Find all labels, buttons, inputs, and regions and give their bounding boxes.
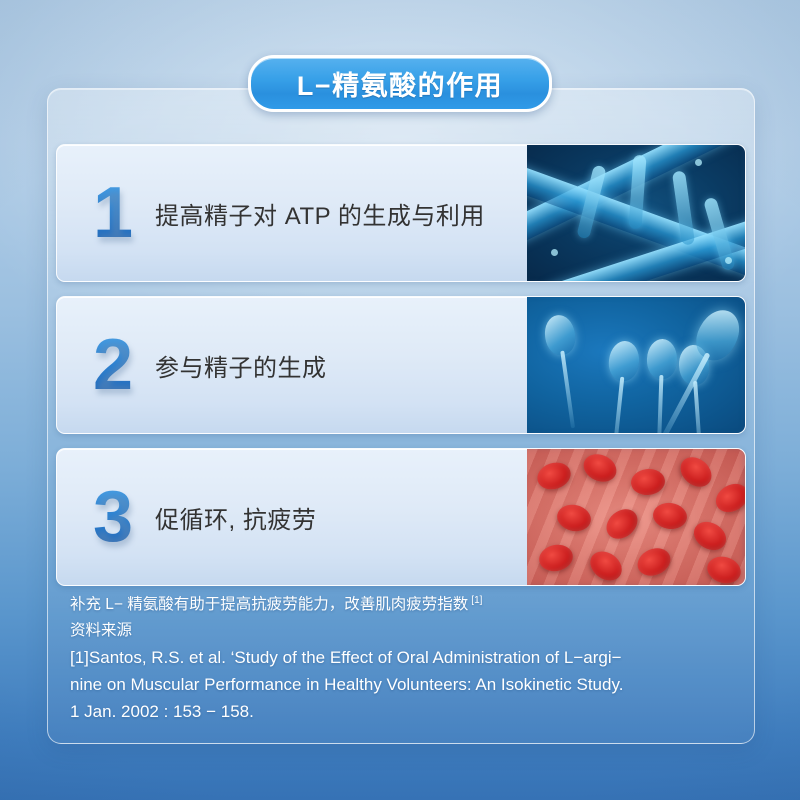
benefit-row-2-text: 参与精子的生成 <box>155 348 327 383</box>
benefit-row-3-body: 3 促循环, 抗疲劳 <box>57 449 527 585</box>
footnote-claim-line: 补充 L− 精氨酸有助于提高抗疲劳能力，改善肌肉疲劳指数[1] <box>70 588 700 618</box>
citation-line-1: [1]Santos, R.S. et al. ‘Study of the Eff… <box>70 644 700 671</box>
benefit-row-3-text: 促循环, 抗疲劳 <box>155 500 316 535</box>
footnote-source-label: 资料来源 <box>70 618 700 644</box>
footnotes: 补充 L− 精氨酸有助于提高抗疲劳能力，改善肌肉疲劳指数[1] 资料来源 [1]… <box>70 588 700 725</box>
benefit-list: 1 提高精子对 ATP 的生成与利用 2 参与精子的生成 <box>56 144 746 600</box>
page-title: L−精氨酸的作用 <box>297 64 503 103</box>
benefit-row-1-text: 提高精子对 ATP 的生成与利用 <box>155 196 485 231</box>
footnote-claim-text: 补充 L− 精氨酸有助于提高抗疲劳能力，改善肌肉疲劳指数 <box>70 596 468 613</box>
benefit-row-1: 1 提高精子对 ATP 的生成与利用 <box>56 144 746 282</box>
red-blood-cells-photo <box>527 449 745 585</box>
benefit-row-3-number: 3 <box>93 481 133 553</box>
citation-line-3: 1 Jan. 2002 : 153 − 158. <box>70 698 700 725</box>
citation-line-2: nine on Muscular Performance in Healthy … <box>70 671 700 698</box>
dna-double-helix-photo <box>527 145 745 281</box>
page-title-pill: L−精氨酸的作用 <box>248 55 552 112</box>
benefit-row-2-body: 2 参与精子的生成 <box>57 297 527 433</box>
sperm-cells-photo <box>527 297 745 433</box>
benefit-row-3: 3 促循环, 抗疲劳 <box>56 448 746 586</box>
title-area: L−精氨酸的作用 <box>0 55 800 112</box>
benefit-row-2-number: 2 <box>93 329 133 401</box>
benefit-row-1-body: 1 提高精子对 ATP 的生成与利用 <box>57 145 527 281</box>
benefit-row-2: 2 参与精子的生成 <box>56 296 746 434</box>
benefit-row-1-number: 1 <box>93 177 133 249</box>
footnote-claim-ref: [1] <box>471 595 482 606</box>
